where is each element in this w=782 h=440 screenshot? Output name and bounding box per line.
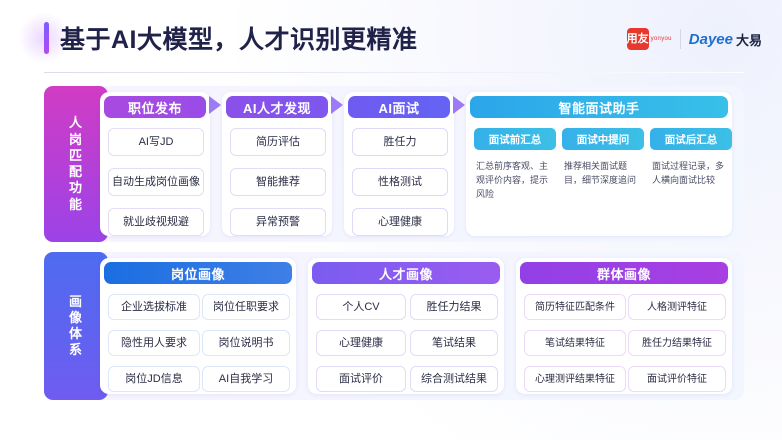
- assistant-card-2-body: 推荐相关面试题目，细节深度追问: [564, 160, 642, 188]
- cell-population-profile-4[interactable]: 胜任力结果特征: [628, 330, 726, 356]
- arrow-2: [331, 96, 345, 114]
- yonyou-logo: 用友 yonyou: [627, 28, 672, 50]
- col-head-talent-profile: 人才画像: [312, 262, 500, 284]
- dayee-logo: Dayee 大易: [689, 30, 762, 49]
- arrow-1: [209, 96, 223, 114]
- logo-divider: [680, 29, 681, 49]
- assistant-card-2-title[interactable]: 面试中提问: [562, 128, 644, 150]
- cell-ai-interview-2[interactable]: 性格测试: [352, 168, 448, 196]
- assistant-card-3-body: 面试过程记录，多人横向面试比较: [652, 160, 730, 188]
- dayee-brand: Dayee: [689, 31, 733, 48]
- cell-population-profile-3[interactable]: 笔试结果特征: [524, 330, 626, 356]
- cell-ai-talent-1[interactable]: 简历评估: [230, 128, 326, 156]
- cell-ai-interview-1[interactable]: 胜任力: [352, 128, 448, 156]
- cell-job-posting-3[interactable]: 就业歧视规避: [108, 208, 204, 236]
- page-title: 基于AI大模型，人才识别更精准: [60, 20, 418, 56]
- col-head-population-profile: 群体画像: [520, 262, 728, 284]
- yonyou-logo-sub: yonyou: [651, 36, 672, 43]
- logo-group: 用友 yonyou Dayee 大易: [627, 28, 762, 50]
- header: 基于AI大模型，人才识别更精准 用友 yonyou Dayee 大易: [0, 0, 782, 76]
- cell-talent-profile-6[interactable]: 综合测试结果: [410, 366, 498, 392]
- col-head-ai-interview: AI面试: [348, 96, 450, 118]
- section-profile-side-label: 画像体系: [44, 252, 108, 400]
- assistant-card-1-title[interactable]: 面试前汇总: [474, 128, 556, 150]
- cell-job-profile-5[interactable]: 岗位JD信息: [108, 366, 200, 392]
- cell-job-profile-1[interactable]: 企业选拔标准: [108, 294, 200, 320]
- col-head-ai-talent-discovery: AI人才发现: [226, 96, 328, 118]
- yonyou-logo-mark: 用友: [627, 28, 649, 50]
- section-matching-side-label: 人岗匹配功能: [44, 86, 108, 242]
- cell-talent-profile-2[interactable]: 胜任力结果: [410, 294, 498, 320]
- cell-job-profile-3[interactable]: 隐性用人要求: [108, 330, 200, 356]
- cell-talent-profile-4[interactable]: 笔试结果: [410, 330, 498, 356]
- cell-job-profile-2[interactable]: 岗位任职要求: [202, 294, 290, 320]
- col-head-interview-assistant: 智能面试助手: [470, 96, 728, 118]
- cell-job-posting-2[interactable]: 自动生成岗位画像: [108, 168, 204, 196]
- dayee-brand-cn: 大易: [736, 30, 762, 49]
- cell-ai-talent-3[interactable]: 异常预警: [230, 208, 326, 236]
- assistant-card-3-title[interactable]: 面试后汇总: [650, 128, 732, 150]
- header-divider: [44, 72, 744, 73]
- cell-job-profile-4[interactable]: 岗位说明书: [202, 330, 290, 356]
- cell-job-posting-1[interactable]: AI写JD: [108, 128, 204, 156]
- cell-ai-talent-2[interactable]: 智能推荐: [230, 168, 326, 196]
- col-head-job-profile: 岗位画像: [104, 262, 292, 284]
- cell-talent-profile-1[interactable]: 个人CV: [316, 294, 406, 320]
- cell-population-profile-5[interactable]: 心理测评结果特征: [524, 366, 626, 392]
- cell-talent-profile-3[interactable]: 心理健康: [316, 330, 406, 356]
- cell-job-profile-6[interactable]: AI自我学习: [202, 366, 290, 392]
- cell-ai-interview-3[interactable]: 心理健康: [352, 208, 448, 236]
- cell-population-profile-2[interactable]: 人格测评特征: [628, 294, 726, 320]
- title-accent-bar: [44, 22, 49, 54]
- assistant-card-1-body: 汇总前序客观、主观评价内容，提示风险: [476, 160, 554, 202]
- cell-talent-profile-5[interactable]: 面试评价: [316, 366, 406, 392]
- cell-population-profile-1[interactable]: 简历特征匹配条件: [524, 294, 626, 320]
- slide: 基于AI大模型，人才识别更精准 用友 yonyou Dayee 大易 人岗匹配功…: [0, 0, 782, 440]
- arrow-3: [453, 96, 467, 114]
- cell-population-profile-6[interactable]: 面试评价特征: [628, 366, 726, 392]
- col-head-job-posting: 职位发布: [104, 96, 206, 118]
